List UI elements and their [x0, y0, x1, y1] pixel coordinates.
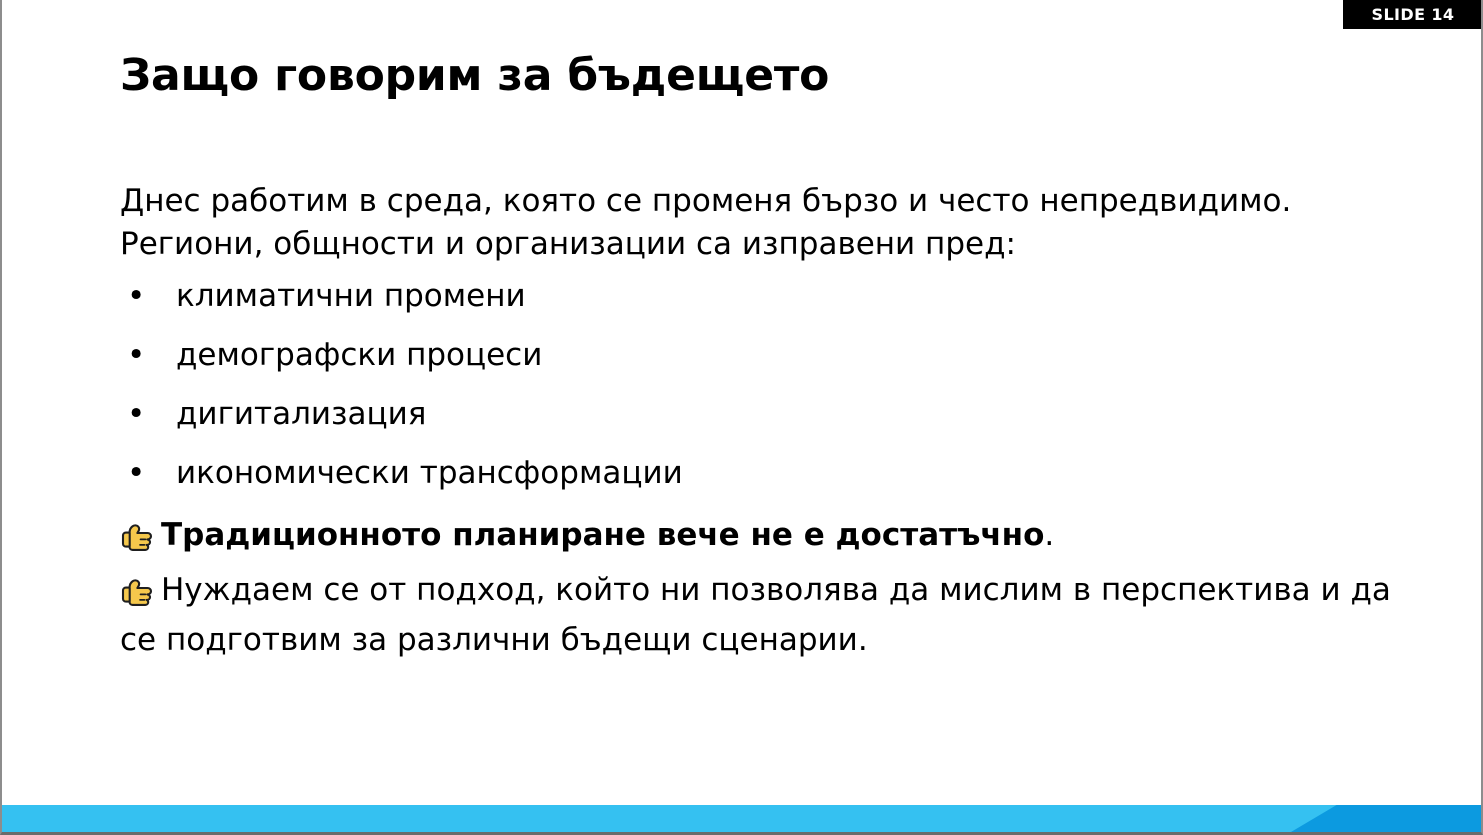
intro-paragraph: Днес работим в среда, която се променя б…	[120, 180, 1410, 266]
emphasis-line-2: Нуждаем се от подход, който ни позволява…	[120, 569, 1410, 662]
list-item-label: икономически трансформации	[176, 455, 683, 491]
bullet-dot-icon: •	[127, 455, 145, 492]
slide-number-badge: SLIDE 14	[1343, 0, 1483, 29]
list-item: • климатични промени	[120, 278, 1410, 315]
emphasis-line-2-text: Нуждаем се от подход, който ни позволява…	[120, 572, 1391, 658]
list-item: • демографски процеси	[120, 337, 1410, 374]
emphasis-line-1: Традиционното планиране вече не е достат…	[120, 514, 1410, 564]
list-item-label: демографски процеси	[176, 337, 542, 373]
list-item-label: климатични промени	[176, 278, 526, 314]
slide-canvas: SLIDE 14 Защо говорим за бъдещето Днес р…	[0, 0, 1483, 835]
emphasis-line-1-text: Традиционното планиране вече не е достат…	[161, 517, 1044, 553]
emphasis-line-1-tail: .	[1044, 517, 1054, 553]
list-item: • икономически трансформации	[120, 455, 1410, 492]
footer-accent-bar	[2, 805, 1481, 832]
pointing-right-hand-icon	[120, 521, 154, 564]
slide-body: Днес работим в среда, която се променя б…	[120, 180, 1410, 662]
bullet-dot-icon: •	[127, 396, 145, 433]
list-item-label: дигитализация	[176, 396, 426, 432]
page-title: Защо говорим за бъдещето	[120, 50, 829, 101]
bullet-dot-icon: •	[127, 337, 145, 374]
challenges-list: • климатични промени • демографски проце…	[120, 278, 1410, 493]
bullet-dot-icon: •	[127, 278, 145, 315]
pointing-right-hand-icon	[120, 576, 154, 619]
list-item: • дигитализация	[120, 396, 1410, 433]
